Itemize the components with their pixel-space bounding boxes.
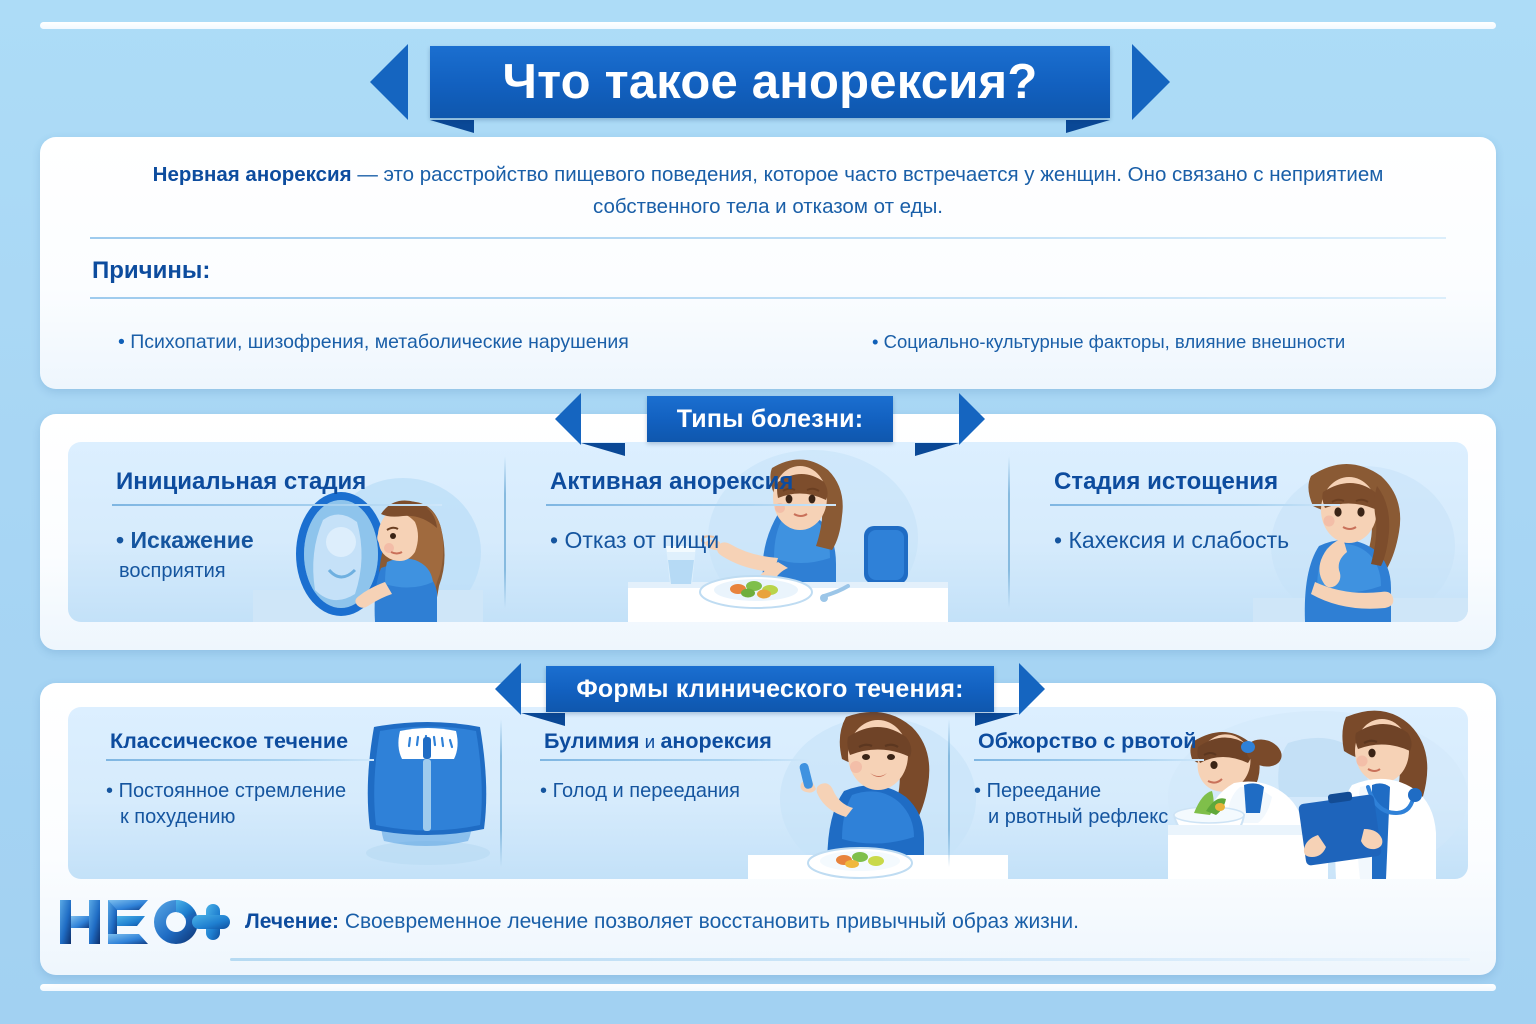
types-column-2-bullet-bold: Кахексия и слабость bbox=[1068, 527, 1289, 553]
treatment-text: Своевременное лечение позволяет восстано… bbox=[339, 910, 1079, 933]
types-column-2: Стадия истощения • Кахексия и слабость bbox=[1010, 442, 1468, 622]
cause-item-1: • Социально-культурные факторы, влияние … bbox=[872, 331, 1345, 353]
forms-column-0-title: Классическое течение bbox=[110, 729, 348, 754]
forms-column-1-bullet-bold: Голод и переедания bbox=[553, 780, 740, 802]
bottom-divider-rule bbox=[40, 984, 1496, 991]
ribbon-tail-left-icon bbox=[555, 393, 581, 445]
forms-column-divider-1 bbox=[500, 719, 502, 867]
intro-lead-text: Нервная анорексия — это расстройство пищ… bbox=[100, 159, 1436, 223]
cause-item-0-label: Психопатии, шизофрения, метаболические н… bbox=[130, 331, 629, 353]
bullet-dot-icon: • bbox=[116, 527, 130, 553]
types-column-2-title: Стадия истощения bbox=[1054, 468, 1278, 496]
bullet-dot-icon: • bbox=[550, 527, 564, 553]
forms-column-divider-2 bbox=[948, 719, 950, 867]
ribbon-tail-right-icon bbox=[959, 393, 985, 445]
forms-section-banner: Формы клинического течения: bbox=[495, 665, 1045, 713]
intro-divider-2 bbox=[90, 297, 1446, 299]
ribbon-fold-right-icon bbox=[1066, 120, 1110, 133]
forms-column-1-title-mid: и bbox=[639, 732, 660, 753]
types-column-divider-1 bbox=[504, 456, 506, 608]
types-card: Инициальная стадия • Искажение восприяти… bbox=[40, 414, 1496, 650]
ribbon-tail-right-icon bbox=[1132, 44, 1170, 120]
forms-column-0: Классическое течение • Постоянное стремл… bbox=[68, 707, 500, 879]
types-column-0: Инициальная стадия • Искажение восприяти… bbox=[68, 442, 504, 622]
forms-column-2-bullet: • Переедание и рвотный рефлекс bbox=[974, 779, 1168, 830]
forms-column-1-title-bold: Булимия bbox=[544, 729, 639, 753]
causes-heading: Причины: bbox=[92, 257, 210, 285]
forms-column-0-bullet-rest: к похудению bbox=[106, 806, 235, 828]
intro-lead-rest: — это расстройство пищевого поведения, к… bbox=[352, 163, 1384, 218]
types-column-2-bullet: • Кахексия и слабость bbox=[1054, 526, 1289, 555]
forms-column-1-title-bold2: анорексия bbox=[660, 729, 771, 753]
cause-item-1-label: Социально-культурные факторы, влияние вн… bbox=[884, 331, 1346, 352]
forms-column-0-bullet-bold: Постоянное стремление bbox=[119, 780, 347, 802]
hero-ribbon-banner: Что такое анорексия? bbox=[370, 44, 1170, 120]
bullet-dot-icon: • bbox=[872, 331, 884, 352]
types-column-0-title: Инициальная стадия bbox=[116, 468, 366, 496]
forms-column-2-bullet-bold: Переедание bbox=[987, 780, 1102, 802]
types-column-0-bullet: • Искажение восприятия bbox=[116, 526, 254, 585]
types-column-divider-2 bbox=[1008, 456, 1010, 608]
ribbon-fold-left-icon bbox=[430, 120, 474, 133]
forms-column-1-title: Булимия и анорексия bbox=[544, 729, 772, 754]
bullet-dot-icon: • bbox=[540, 780, 553, 802]
forms-column-2-bullet-rest: и рвотный рефлекс bbox=[974, 806, 1168, 828]
bullet-dot-icon: • bbox=[118, 331, 130, 353]
intro-lead-bold: Нервная анорексия bbox=[153, 163, 352, 186]
intro-card: Нервная анорексия — это расстройство пищ… bbox=[40, 137, 1496, 389]
bullet-dot-icon: • bbox=[1054, 527, 1068, 553]
forms-column-2-title: Обжорство с рвотой bbox=[978, 729, 1196, 754]
types-column-1: Активная анорексия • Отказ от пищи bbox=[506, 442, 1008, 622]
types-panel: Инициальная стадия • Искажение восприяти… bbox=[68, 442, 1468, 622]
forms-column-1-underline bbox=[540, 759, 810, 761]
ribbon-tail-left-icon bbox=[495, 663, 521, 715]
types-column-0-underline bbox=[112, 504, 442, 506]
forms-column-2-underline bbox=[974, 759, 1204, 761]
top-divider-rule bbox=[40, 22, 1496, 29]
types-column-1-bullet-bold: Отказ от пищи bbox=[564, 527, 719, 553]
bullet-dot-icon: • bbox=[106, 780, 119, 802]
types-section-banner: Типы болезни: bbox=[555, 395, 985, 443]
types-column-0-bullet-bold: Искажение bbox=[130, 527, 253, 553]
types-column-2-underline bbox=[1050, 504, 1340, 506]
types-banner-label: Типы болезни: bbox=[647, 396, 893, 442]
forms-column-1-bullet: • Голод и переедания bbox=[540, 779, 740, 805]
footer-divider bbox=[230, 958, 1470, 961]
types-column-0-bullet-rest: восприятия bbox=[116, 560, 226, 582]
types-column-1-underline bbox=[546, 504, 836, 506]
bullet-dot-icon: • bbox=[974, 780, 987, 802]
ribbon-tail-right-icon bbox=[1019, 663, 1045, 715]
intro-divider-1 bbox=[90, 237, 1446, 239]
treatment-label: Лечение: bbox=[245, 910, 339, 933]
hero-title: Что такое анорексия? bbox=[430, 46, 1110, 118]
types-column-1-bullet: • Отказ от пищи bbox=[550, 526, 719, 555]
types-column-1-title: Активная анорексия bbox=[550, 468, 793, 496]
cause-item-0: • Психопатии, шизофрения, метаболические… bbox=[118, 331, 629, 354]
forms-panel: Классическое течение • Постоянное стремл… bbox=[68, 707, 1468, 879]
treatment-line: Лечение: Своевременное лечение позволяет… bbox=[245, 910, 1079, 934]
forms-column-1: Булимия и анорексия • Голод и переедания bbox=[502, 707, 948, 879]
ribbon-tail-left-icon bbox=[370, 44, 408, 120]
forms-banner-label: Формы клинического течения: bbox=[546, 666, 993, 712]
forms-column-0-bullet: • Постоянное стремление к похудению bbox=[106, 779, 346, 830]
forms-column-0-underline bbox=[106, 759, 374, 761]
forms-column-2: Обжорство с рвотой • Переедание и рвотны… bbox=[950, 707, 1468, 879]
neo-plus-logo bbox=[58, 896, 230, 948]
